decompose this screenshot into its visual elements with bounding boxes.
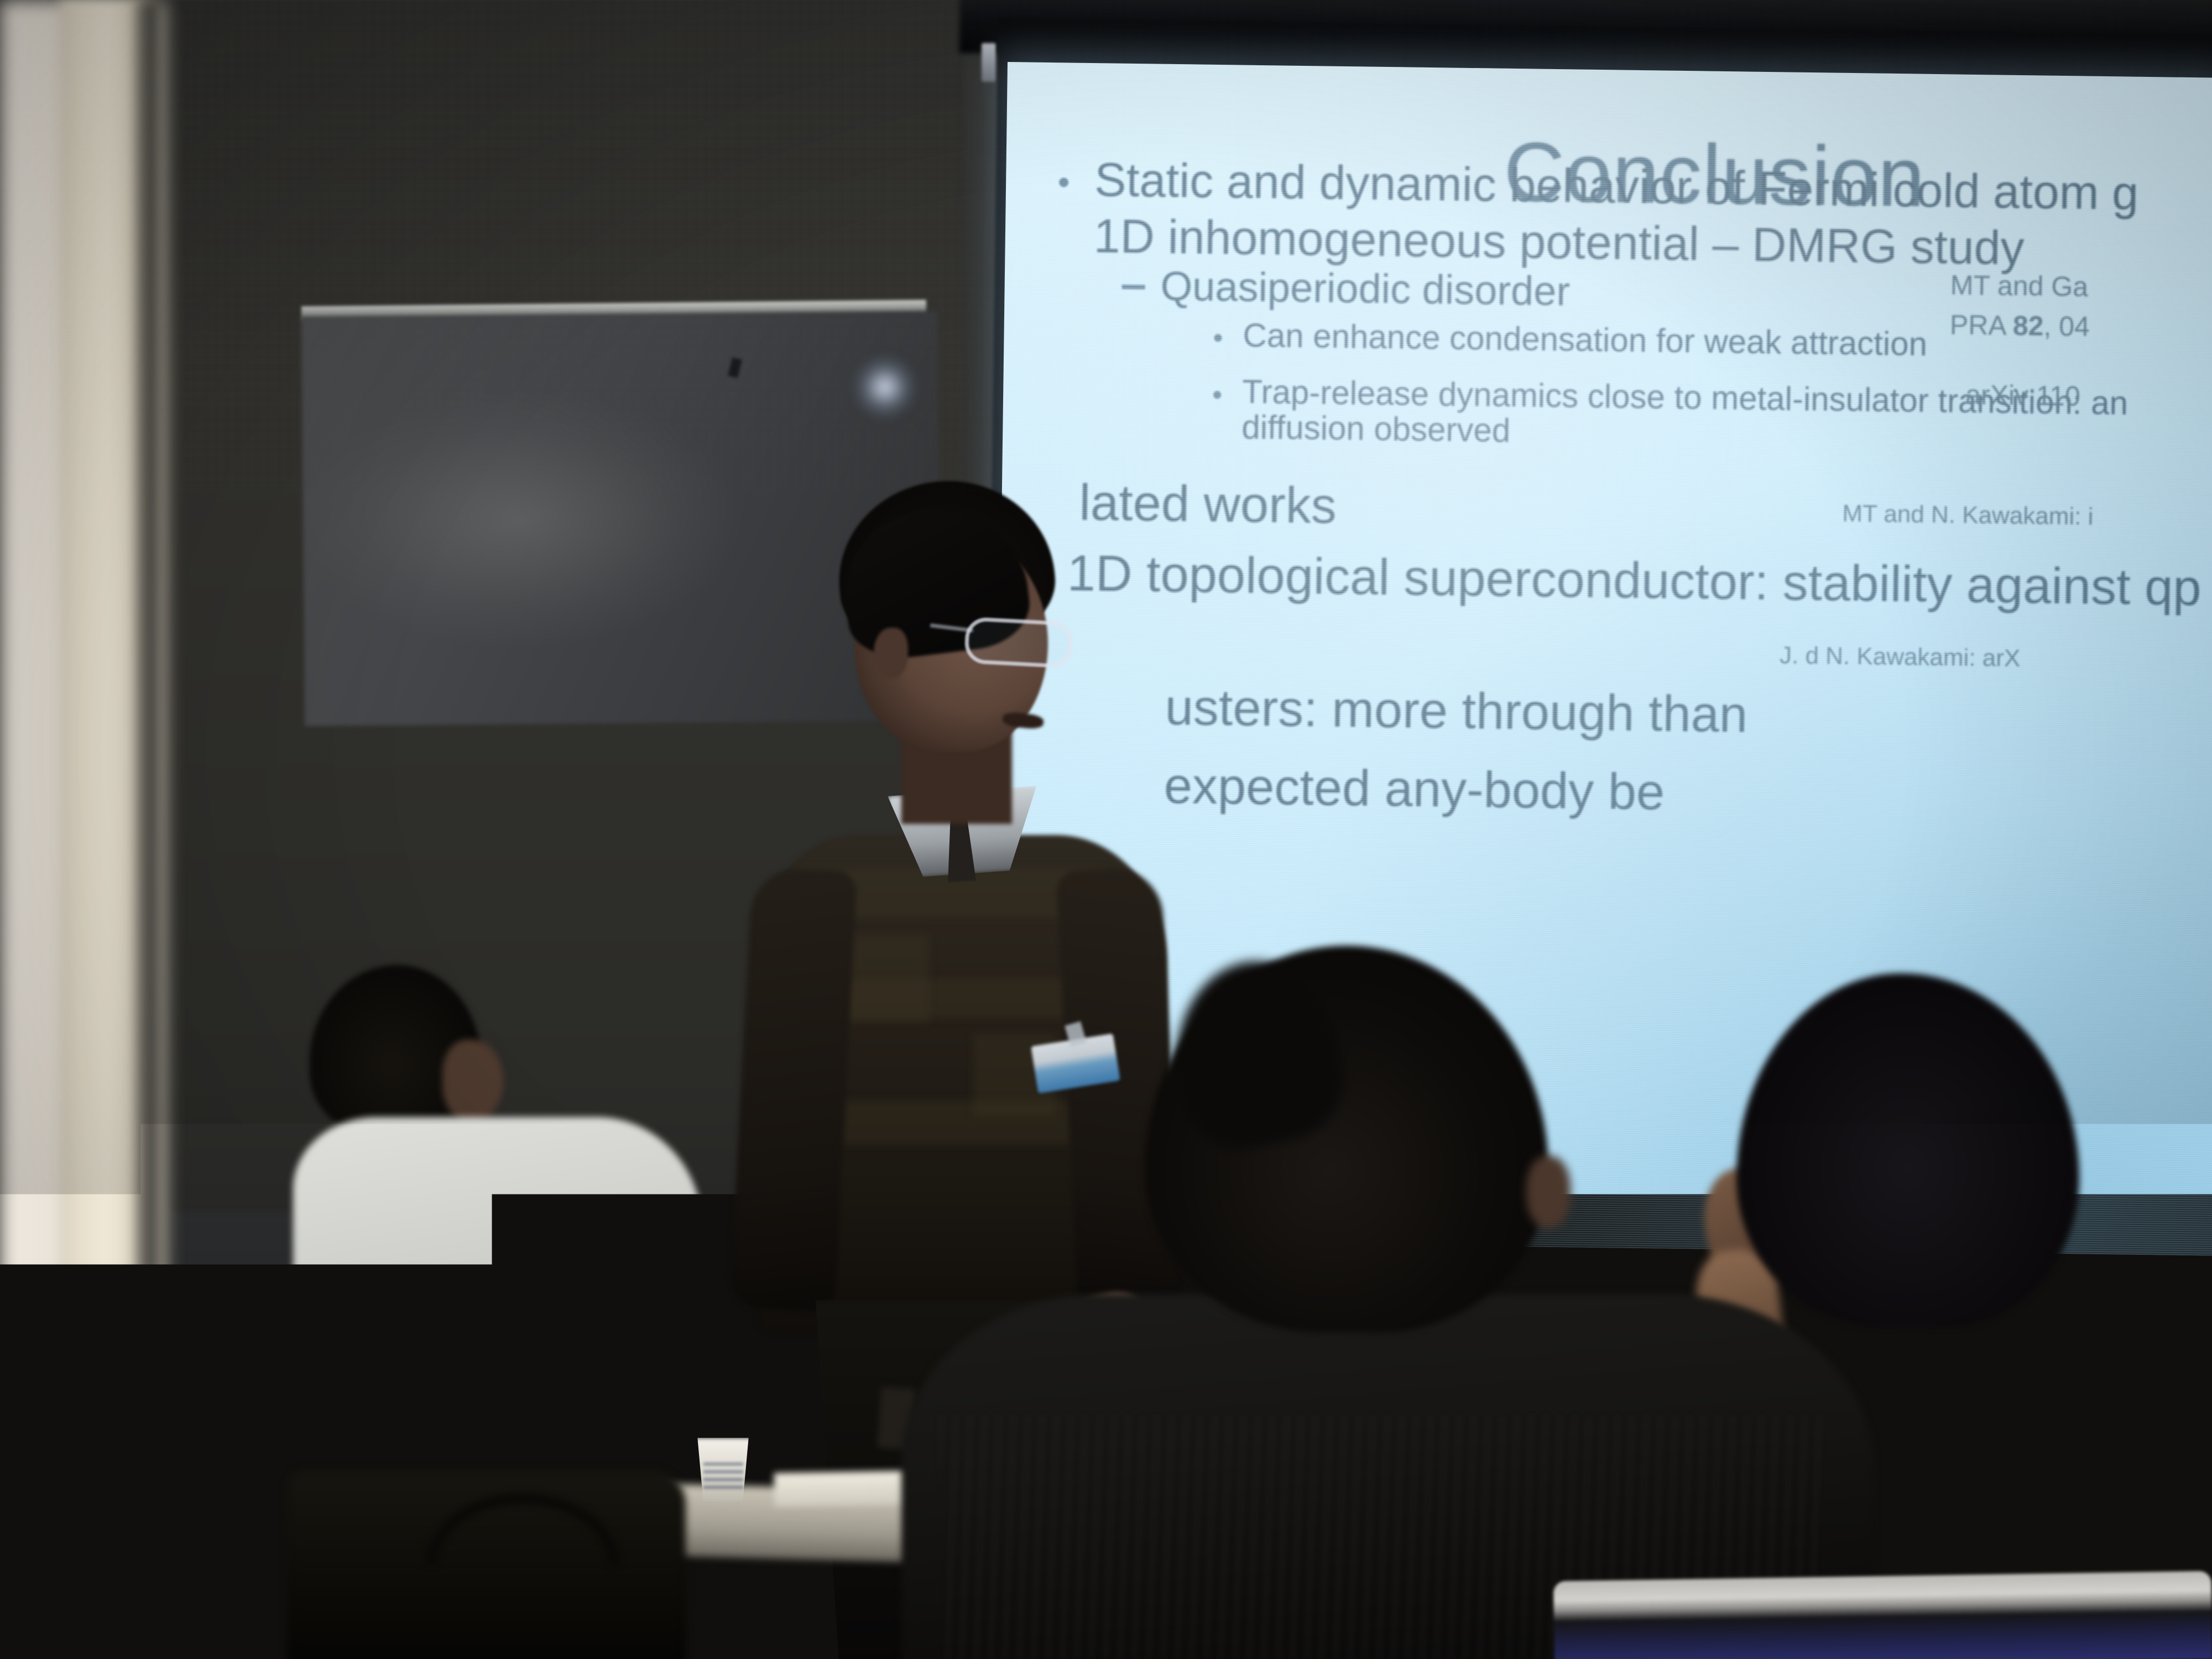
bullet-marker-dot	[1214, 334, 1222, 342]
blackboard-glare	[852, 354, 918, 420]
citation-prefix: PRA	[1950, 309, 2013, 341]
citation-suffix: , 04	[2043, 311, 2090, 342]
glasses-icon	[964, 617, 1073, 669]
laptop-foreground	[1553, 1571, 2212, 1659]
slide-citation-1: MT and Ga	[1950, 269, 2088, 302]
bullet-marker-dot	[1213, 391, 1221, 399]
door-frame-pillar	[60, 0, 148, 1659]
slide-bullet-2-line-1: Quasiperiodic disorder	[1160, 262, 1570, 316]
projector-screen-bracket	[982, 43, 996, 82]
audience-left-face	[442, 1040, 503, 1123]
slide-bullet-3-line-1: Can enhance condensation for weak attrac…	[1243, 315, 1927, 364]
slide-section-line-3: expected any-body be	[1164, 755, 1665, 823]
pillar-shadow-edge	[136, 0, 158, 1659]
slide-citation-4: MT and N. Kawakami: i	[1842, 500, 2094, 531]
presenter-ear	[874, 628, 908, 679]
slide-citation-3: arXiv:110	[1965, 379, 2080, 413]
slide-citation-5: J. d N. Kawakami: arX	[1780, 641, 2021, 672]
citation-volume: 82	[2013, 310, 2044, 342]
slide-citation-2: PRA 82, 04	[1950, 309, 2090, 342]
slide-section-line-2: usters: more through than	[1165, 677, 1748, 745]
photo-scene: Conclusion Static and dynamic behavior o…	[0, 0, 2212, 1659]
sweater-pattern-block	[846, 935, 929, 1023]
slide-section-line-1: 1D topological superconductor: stability…	[1067, 542, 2212, 620]
bullet-marker-dash	[1122, 285, 1145, 290]
slide-bullet-4-line-2: diffusion observed	[1241, 407, 1511, 451]
audience-center-ear	[1526, 1156, 1571, 1228]
paper-cup-pattern	[703, 1460, 743, 1489]
bullet-marker-dot	[1059, 178, 1068, 187]
